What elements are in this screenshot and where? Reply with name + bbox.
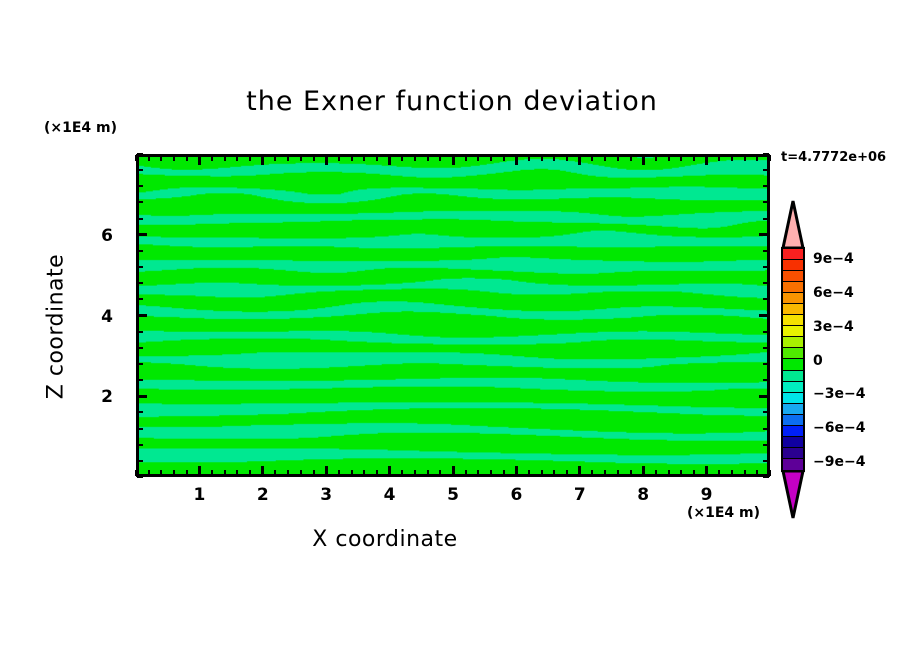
x-tick xyxy=(668,470,670,476)
x-tick xyxy=(465,155,467,161)
x-tick xyxy=(503,155,505,161)
y-tick xyxy=(137,282,143,284)
colorbar-segment xyxy=(783,282,803,293)
y-tick xyxy=(763,444,769,446)
y-tick xyxy=(137,218,143,220)
x-tick xyxy=(515,155,518,165)
x-tick xyxy=(338,155,340,161)
x-tick xyxy=(769,155,771,161)
x-tick xyxy=(211,470,213,476)
colorbar-segment xyxy=(783,448,803,459)
colorbar-segment xyxy=(783,304,803,315)
x-tick xyxy=(578,466,581,476)
x-tick xyxy=(427,155,429,161)
colorbar-segment xyxy=(783,426,803,437)
x-tick xyxy=(718,155,720,161)
x-tick xyxy=(591,470,593,476)
x-tick xyxy=(313,470,315,476)
x-tick xyxy=(655,155,657,161)
y-tick xyxy=(763,218,769,220)
x-tick xyxy=(541,470,543,476)
x-tick-label: 8 xyxy=(613,485,673,505)
y-tick-label: 4 xyxy=(92,307,122,327)
x-tick xyxy=(553,470,555,476)
x-tick xyxy=(274,155,276,161)
x-tick xyxy=(503,470,505,476)
x-tick xyxy=(744,470,746,476)
x-tick xyxy=(274,470,276,476)
x-tick xyxy=(680,470,682,476)
x-tick xyxy=(388,155,391,165)
x-tick xyxy=(642,466,645,476)
x-tick xyxy=(718,470,720,476)
colorbar-segment xyxy=(783,415,803,426)
x-tick xyxy=(756,155,758,161)
x-tick xyxy=(325,155,328,165)
x-tick xyxy=(414,470,416,476)
colorbar[interactable]: 9e−46e−43e−40−3e−4−6e−4−9e−4 xyxy=(781,199,805,519)
colorbar-segment xyxy=(783,326,803,337)
colorbar-segment xyxy=(783,437,803,448)
x-tick xyxy=(376,155,378,161)
page-title: the Exner function deviation xyxy=(0,86,904,117)
x-tick xyxy=(693,155,695,161)
x-tick xyxy=(680,155,682,161)
x-tick xyxy=(338,470,340,476)
time-stamp-label: t=4.7772e+06 xyxy=(781,150,886,165)
y-tick xyxy=(137,233,147,236)
x-tick xyxy=(224,155,226,161)
x-tick xyxy=(515,466,518,476)
y-tick xyxy=(763,266,769,268)
contour-plot-area[interactable] xyxy=(136,154,770,477)
colorbar-tick-label: 9e−4 xyxy=(813,252,854,266)
colorbar-tick-label: 3e−4 xyxy=(813,320,854,334)
y-tick xyxy=(759,233,769,236)
x-tick xyxy=(287,155,289,161)
x-tick xyxy=(261,155,264,165)
y-tick xyxy=(137,266,143,268)
x-tick xyxy=(363,155,365,161)
x-tick xyxy=(148,470,150,476)
x-tick xyxy=(528,155,530,161)
colorbar-segment xyxy=(783,393,803,404)
x-tick xyxy=(376,470,378,476)
x-tick xyxy=(160,470,162,476)
x-tick xyxy=(313,155,315,161)
y-tick xyxy=(763,331,769,333)
x-tick xyxy=(325,466,328,476)
x-tick xyxy=(173,155,175,161)
colorbar-tick-label: −9e−4 xyxy=(813,455,865,469)
x-tick-label: 7 xyxy=(550,485,610,505)
x-tick xyxy=(566,155,568,161)
y-tick xyxy=(137,444,143,446)
y-tick xyxy=(763,363,769,365)
y-tick xyxy=(763,201,769,203)
y-tick xyxy=(759,395,769,398)
y-tick xyxy=(763,379,769,381)
x-tick xyxy=(604,470,606,476)
colorbar-tick-label: 6e−4 xyxy=(813,286,854,300)
x-tick xyxy=(630,155,632,161)
x-tick xyxy=(769,470,771,476)
x-tick xyxy=(401,155,403,161)
y-tick xyxy=(763,185,769,187)
y-tick xyxy=(137,314,147,317)
x-tick xyxy=(351,155,353,161)
y-tick xyxy=(137,331,143,333)
x-tick xyxy=(427,470,429,476)
colorbar-segment xyxy=(783,315,803,326)
y-tick-label: 6 xyxy=(92,226,122,246)
x-tick xyxy=(528,470,530,476)
x-tick xyxy=(388,466,391,476)
x-tick-label: 1 xyxy=(169,485,229,505)
x-tick xyxy=(465,470,467,476)
y-tick xyxy=(137,185,143,187)
x-tick xyxy=(249,470,251,476)
x-tick xyxy=(490,470,492,476)
y-tick xyxy=(763,347,769,349)
x-tick xyxy=(452,466,455,476)
colorbar-tick-label: −3e−4 xyxy=(813,387,865,401)
x-tick xyxy=(148,155,150,161)
y-tick xyxy=(763,153,769,155)
x-tick xyxy=(236,155,238,161)
x-tick xyxy=(198,466,201,476)
y-tick xyxy=(137,411,143,413)
x-tick xyxy=(591,155,593,161)
x-tick-label: 4 xyxy=(360,485,420,505)
x-axis-unit-label: (×1E4 m) xyxy=(687,505,760,521)
colorbar-tick-label: −6e−4 xyxy=(813,421,865,435)
y-tick xyxy=(137,379,143,381)
y-tick xyxy=(763,169,769,171)
y-tick xyxy=(763,298,769,300)
colorbar-segments xyxy=(781,247,805,472)
x-tick xyxy=(693,470,695,476)
colorbar-segment xyxy=(783,371,803,382)
colorbar-segment xyxy=(783,359,803,370)
colorbar-over-arrow-icon xyxy=(781,199,805,249)
x-tick xyxy=(553,155,555,161)
colorbar-segment xyxy=(783,404,803,415)
x-tick xyxy=(401,470,403,476)
x-tick xyxy=(756,470,758,476)
y-tick-label: 2 xyxy=(92,387,122,407)
x-tick xyxy=(655,470,657,476)
y-axis-title: Z coordinate xyxy=(44,227,69,427)
y-tick xyxy=(763,250,769,252)
y-tick xyxy=(763,428,769,430)
x-tick xyxy=(261,466,264,476)
x-tick xyxy=(541,155,543,161)
x-tick xyxy=(439,470,441,476)
x-tick xyxy=(351,470,353,476)
colorbar-segment xyxy=(783,382,803,393)
y-tick xyxy=(763,476,769,478)
colorbar-under-arrow-icon xyxy=(781,470,805,520)
colorbar-segment xyxy=(783,459,803,470)
x-tick xyxy=(224,470,226,476)
x-tick xyxy=(211,155,213,161)
x-tick xyxy=(452,155,455,165)
x-tick xyxy=(630,470,632,476)
x-tick xyxy=(414,155,416,161)
y-tick xyxy=(137,298,143,300)
x-tick xyxy=(477,470,479,476)
y-tick xyxy=(137,363,143,365)
y-tick xyxy=(137,250,143,252)
x-tick xyxy=(300,470,302,476)
x-tick xyxy=(363,470,365,476)
x-tick xyxy=(300,155,302,161)
x-tick xyxy=(439,155,441,161)
x-tick xyxy=(477,155,479,161)
x-tick xyxy=(135,155,137,161)
y-tick xyxy=(763,460,769,462)
y-tick xyxy=(137,395,147,398)
x-tick xyxy=(249,155,251,161)
x-tick xyxy=(642,155,645,165)
y-tick xyxy=(137,347,143,349)
colorbar-segment xyxy=(783,249,803,260)
x-tick-label: 9 xyxy=(677,485,737,505)
x-tick xyxy=(578,155,581,165)
x-tick xyxy=(668,155,670,161)
x-tick xyxy=(566,470,568,476)
x-tick xyxy=(617,155,619,161)
x-tick xyxy=(173,470,175,476)
colorbar-segment xyxy=(783,260,803,271)
x-tick xyxy=(198,155,201,165)
x-tick xyxy=(236,470,238,476)
y-tick xyxy=(137,153,143,155)
x-tick xyxy=(731,155,733,161)
x-tick xyxy=(186,470,188,476)
x-tick-label: 2 xyxy=(233,485,293,505)
x-tick-label: 5 xyxy=(423,485,483,505)
y-axis-unit-label: (×1E4 m) xyxy=(44,120,117,136)
x-tick xyxy=(490,155,492,161)
y-tick xyxy=(137,169,143,171)
y-tick xyxy=(137,460,143,462)
y-tick xyxy=(137,201,143,203)
y-tick xyxy=(763,282,769,284)
contour-field xyxy=(139,157,767,474)
x-tick xyxy=(604,155,606,161)
x-tick-label: 6 xyxy=(486,485,546,505)
colorbar-segment xyxy=(783,337,803,348)
x-tick xyxy=(705,155,708,165)
x-tick-label: 3 xyxy=(296,485,356,505)
y-tick xyxy=(137,428,143,430)
colorbar-segment xyxy=(783,348,803,359)
colorbar-segment xyxy=(783,293,803,304)
x-tick xyxy=(744,155,746,161)
x-tick xyxy=(160,155,162,161)
x-tick xyxy=(186,155,188,161)
x-tick xyxy=(287,470,289,476)
y-tick xyxy=(763,411,769,413)
y-tick xyxy=(759,314,769,317)
x-tick xyxy=(617,470,619,476)
colorbar-tick-label: 0 xyxy=(813,354,823,368)
colorbar-segment xyxy=(783,271,803,282)
x-tick xyxy=(705,466,708,476)
x-tick xyxy=(731,470,733,476)
y-tick xyxy=(137,476,143,478)
x-axis-title: X coordinate xyxy=(0,527,770,552)
